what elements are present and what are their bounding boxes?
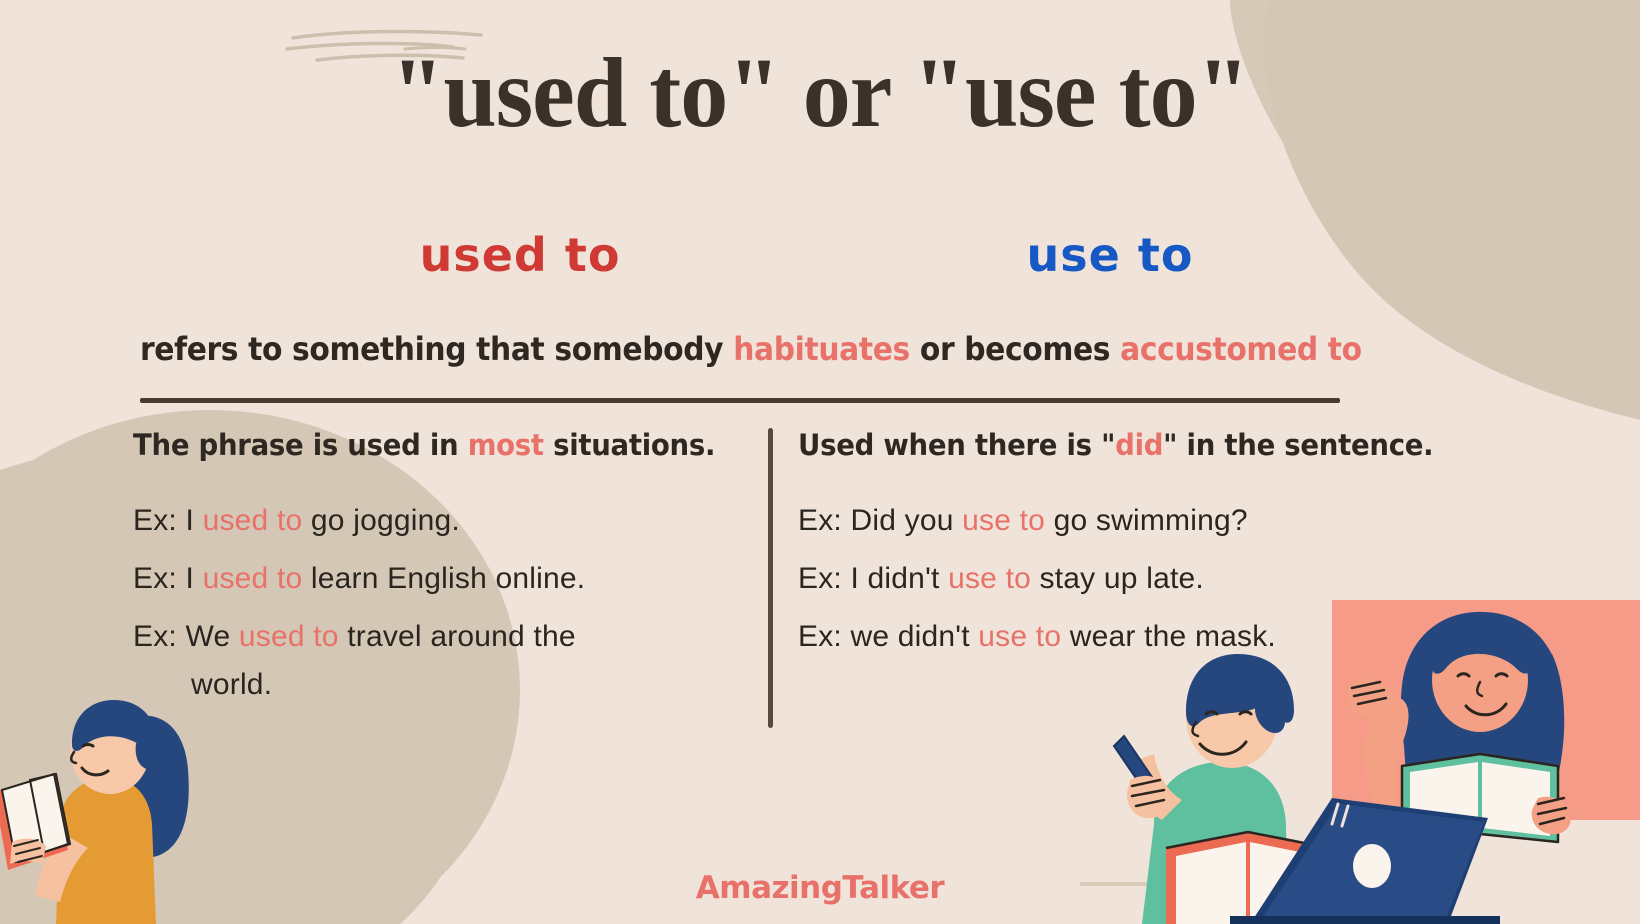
example-continuation: world.: [133, 670, 753, 700]
example-text-1: Ex: Did you: [798, 504, 962, 537]
example-text-2: stay up late.: [1031, 562, 1204, 595]
example-highlight: use to: [978, 620, 1061, 653]
right-head-text-1: Used when there is ": [798, 428, 1115, 462]
infographic-canvas: "used to" or "use to" used to use to ref…: [0, 0, 1640, 924]
example-highlight: used to: [203, 504, 303, 537]
column-used-to: The phrase is used in most situations. E…: [133, 428, 753, 728]
example-highlight: use to: [948, 562, 1031, 595]
example-text-2: go jogging.: [302, 504, 460, 537]
definition-highlight-2: accustomed to: [1120, 330, 1362, 368]
heading-use-to: use to: [820, 228, 1400, 282]
example-text-2: travel around the: [339, 620, 576, 653]
example-text-1: Ex: we didn't: [798, 620, 978, 653]
example-text-2: wear the mask.: [1061, 620, 1276, 653]
horizontal-divider: [140, 398, 1340, 403]
vertical-divider: [768, 428, 773, 728]
heading-row: used to use to: [0, 228, 1640, 308]
example-item: Ex: I used to go jogging.: [133, 506, 753, 536]
example-item: Ex: I used to learn English online.: [133, 564, 753, 594]
example-item: Ex: We used to travel around theworld.: [133, 622, 753, 700]
right-head-highlight: did: [1115, 428, 1163, 462]
left-head-text-2: situations.: [544, 428, 715, 462]
page-title: "used to" or "use to": [33, 40, 1607, 145]
example-text-1: Ex: We: [133, 620, 239, 653]
example-highlight: used to: [203, 562, 303, 595]
brand-logo: AmazingTalker: [0, 870, 1640, 906]
column-use-to: Used when there is "did" in the sentence…: [798, 428, 1498, 680]
column-right-heading: Used when there is "did" in the sentence…: [798, 428, 1463, 462]
heading-used-to: used to: [230, 228, 810, 282]
example-text-2: learn English online.: [302, 562, 585, 595]
definition-text-1: refers to something that somebody: [140, 330, 733, 368]
example-item: Ex: I didn't use to stay up late.: [798, 564, 1498, 594]
example-item: Ex: Did you use to go swimming?: [798, 506, 1498, 536]
example-text-2: go swimming?: [1045, 504, 1248, 537]
definition-highlight-1: habituates: [733, 330, 910, 368]
column-left-heading: The phrase is used in most situations.: [133, 428, 722, 462]
example-text-1: Ex: I: [133, 504, 203, 537]
right-head-text-2: " in the sentence.: [1163, 428, 1433, 462]
left-head-highlight: most: [468, 428, 544, 462]
definition-text-2: or becomes: [910, 330, 1120, 368]
example-text-1: Ex: I: [133, 562, 203, 595]
definition-line: refers to something that somebody habitu…: [140, 330, 1265, 368]
left-head-text-1: The phrase is used in: [133, 428, 468, 462]
example-text-1: Ex: I didn't: [798, 562, 948, 595]
example-item: Ex: we didn't use to wear the mask.: [798, 622, 1498, 652]
example-highlight: use to: [962, 504, 1045, 537]
example-highlight: used to: [239, 620, 339, 653]
